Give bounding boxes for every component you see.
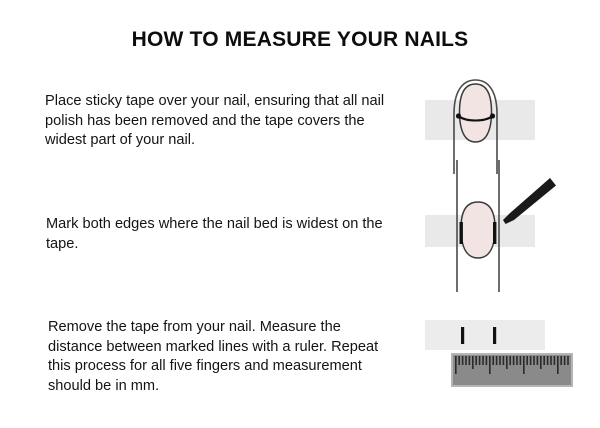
tape-strip	[425, 320, 545, 350]
edge-mark-right	[493, 222, 496, 244]
tape-mark-left	[461, 327, 464, 344]
width-endpoint-dot-right	[490, 113, 495, 118]
width-endpoint-dot-left	[456, 113, 461, 118]
step-3-illustration	[410, 310, 595, 410]
step-2-instruction-text: Mark both edges where the nail bed is wi…	[46, 215, 391, 254]
nail	[460, 84, 492, 142]
step-2-illustration	[410, 160, 595, 295]
edge-mark-left	[460, 222, 463, 244]
nail	[461, 202, 495, 258]
ruler-icon	[452, 354, 572, 386]
poster-page: HOW TO MEASURE YOUR NAILS Place sticky t…	[0, 0, 600, 428]
step-3-instruction-text: Remove the tape from your nail. Measure …	[48, 318, 393, 396]
step-1-instruction-text: Place sticky tape over your nail, ensuri…	[45, 92, 390, 151]
page-title: HOW TO MEASURE YOUR NAILS	[0, 28, 600, 52]
tape-mark-right	[493, 327, 496, 344]
